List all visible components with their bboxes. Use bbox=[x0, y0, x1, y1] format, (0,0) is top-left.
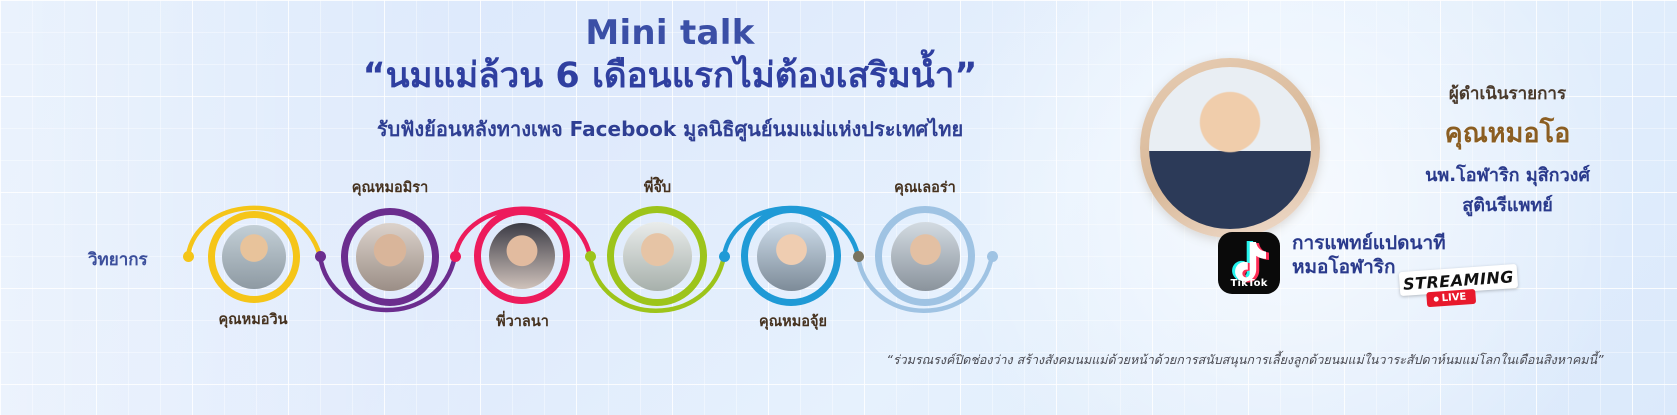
tiktok-logo[interactable]: TikTok bbox=[1218, 232, 1280, 294]
timeline-dot bbox=[987, 251, 998, 262]
timeline-dot bbox=[450, 251, 461, 262]
tiktok-icon[interactable]: TikTok bbox=[1218, 232, 1280, 294]
host-avatar bbox=[1149, 67, 1311, 229]
host-role: ผู้ดำเนินรายการ bbox=[1335, 80, 1677, 107]
host-text-block: ผู้ดำเนินรายการ คุณหมอโอ นพ.โอฬาริก มุสิ… bbox=[1335, 80, 1677, 219]
speaker-name: พี่จ๊ิบ bbox=[595, 176, 720, 199]
live-label: LIVE bbox=[1441, 292, 1466, 305]
channel-line1: การแพทย์แปดนาที bbox=[1292, 232, 1446, 256]
streaming-badge: STREAMING LIVE bbox=[1399, 264, 1520, 312]
speaker-name: พี่วาลนา bbox=[460, 310, 585, 333]
timeline-dot bbox=[719, 251, 730, 262]
host-specialty: สูตินรีแพทย์ bbox=[1335, 190, 1677, 219]
headline-block: Mini talk “นมแม่ล้วน 6 เดือนแรกไม่ต้องเส… bbox=[300, 14, 1040, 145]
host-fullname: นพ.โอฬาริก มุสิกวงศ์ bbox=[1335, 160, 1677, 189]
speaker-name: คุณเลอร่า bbox=[862, 176, 988, 199]
timeline-dot bbox=[585, 251, 596, 262]
headline-line1: Mini talk bbox=[300, 14, 1040, 53]
timeline-dot bbox=[183, 251, 194, 262]
live-dot-icon bbox=[1434, 296, 1439, 301]
speaker-timeline: คุณหมอวิน คุณหมอมิรา พี่วาลนา พี่จ๊ิบ bbox=[0, 180, 1040, 355]
mini-talk-banner: Mini talk “นมแม่ล้วน 6 เดือนแรกไม่ต้องเส… bbox=[0, 0, 1677, 415]
host-nickname: คุณหมอโอ bbox=[1335, 111, 1677, 154]
speaker-name: คุณหมอมิรา bbox=[325, 176, 455, 199]
footnote-text: “ร่วมรณรงค์ปิดช่องว่าง สร้างสังคมนมแม่ด้… bbox=[840, 350, 1650, 370]
headline-subtitle: รับฟังย้อนหลังทางเพจ Facebook มูลนิธิศูน… bbox=[300, 113, 1040, 145]
headline-line2: “นมแม่ล้วน 6 เดือนแรกไม่ต้องเสริมน้ำ” bbox=[300, 55, 1040, 97]
timeline-dot bbox=[853, 251, 864, 262]
speaker-name: คุณหมอจุ้ย bbox=[728, 310, 858, 333]
tiktok-wordmark: TikTok bbox=[1218, 278, 1280, 289]
live-badge: LIVE bbox=[1426, 289, 1476, 307]
timeline-dot bbox=[315, 251, 326, 262]
speaker-name: คุณหมอวิน bbox=[188, 308, 318, 331]
